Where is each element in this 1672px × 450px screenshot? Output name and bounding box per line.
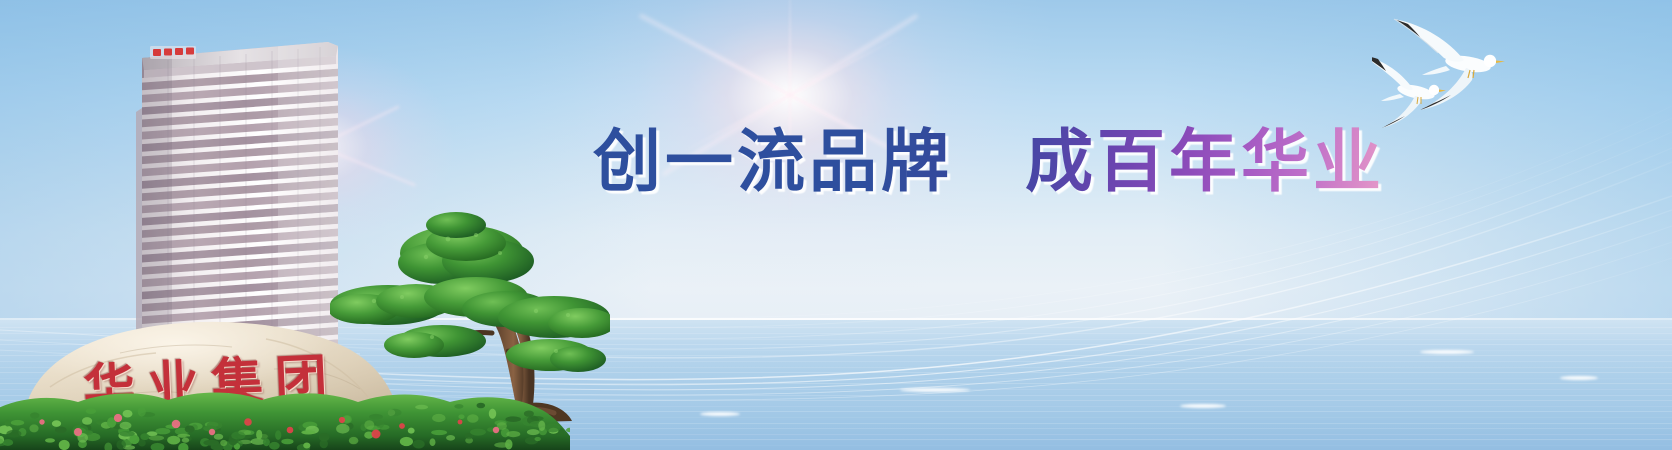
slogan-headline: 创一流品牌 成百年华业 创一流品牌 成百年华业 bbox=[593, 128, 1385, 196]
bonsai-foliage bbox=[330, 212, 610, 372]
flowering-hedge bbox=[0, 378, 570, 450]
slogan-text: 创一流品牌 成百年华业 bbox=[593, 124, 1385, 200]
seagulls-group bbox=[1372, 0, 1672, 150]
corporate-hero-banner: 华业集团 bbox=[0, 0, 1672, 450]
building-rooftop-sign bbox=[150, 46, 196, 59]
seagull-lower bbox=[1372, 56, 1446, 128]
